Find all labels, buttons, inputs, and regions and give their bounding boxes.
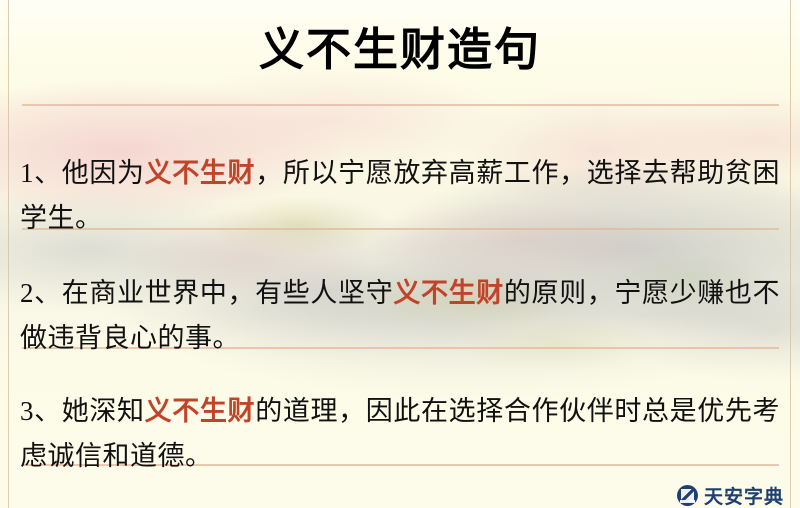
keyword-highlight: 义不生财 xyxy=(145,396,256,426)
sentence-text-before: 她深知 xyxy=(62,396,145,426)
keyword-highlight: 义不生财 xyxy=(145,158,256,188)
list-item: 2、在商业世界中，有些人坚守义不生财的原则，宁愿少赚也不做违背良心的事。 xyxy=(20,271,780,361)
circular-seal-icon xyxy=(677,485,698,506)
list-item: 1、他因为义不生财，所以宁愿放弃高薪工作，选择去帮助贫困学生。 xyxy=(20,151,780,241)
keyword-highlight: 义不生财 xyxy=(393,278,504,308)
sentence-index: 1、 xyxy=(20,158,62,188)
page-root: 义不生财造句 1、他因为义不生财，所以宁愿放弃高薪工作，选择去帮助贫困学生。 2… xyxy=(0,0,800,508)
brand-name: 天安字典 xyxy=(704,482,784,508)
sentence-index: 2、 xyxy=(20,278,62,308)
sentence-text-before: 他因为 xyxy=(62,158,145,188)
list-item: 3、她深知义不生财的道理，因此在选择合作伙伴时总是优先考虑诚信和道德。 xyxy=(20,389,780,479)
sentence-text-before: 在商业世界中，有些人坚守 xyxy=(62,278,394,308)
brand-logo: 天安字典 xyxy=(677,482,784,508)
sentence-index: 3、 xyxy=(20,396,62,426)
page-title: 义不生财造句 xyxy=(0,22,800,78)
divider-1 xyxy=(22,104,779,106)
